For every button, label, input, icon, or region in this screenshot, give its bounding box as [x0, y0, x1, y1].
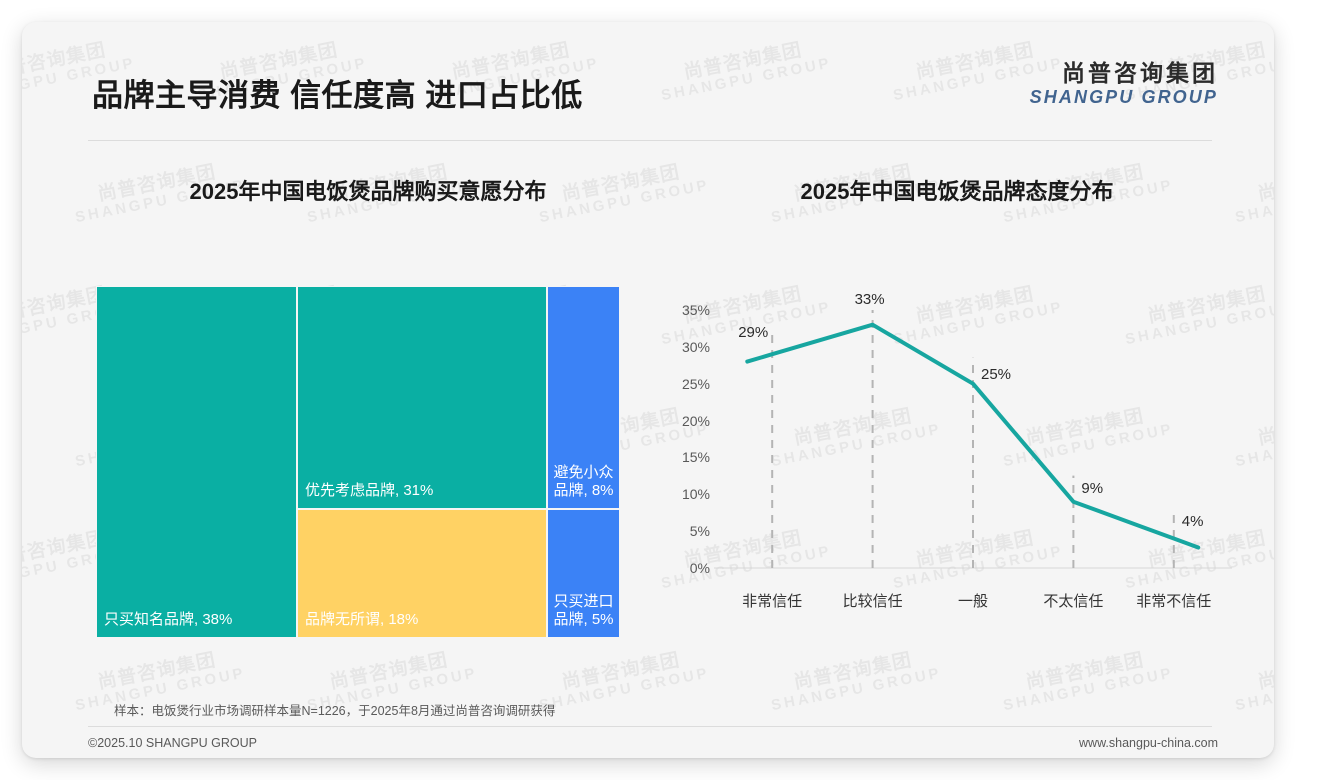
- data-point-label: 29%: [738, 324, 768, 341]
- treemap-cell[interactable]: 避免小众品牌, 8%: [547, 286, 620, 509]
- footer-copyright: ©2025.10 SHANGPU GROUP: [88, 736, 257, 750]
- treemap-cell-label: 只买知名品牌, 38%: [97, 611, 238, 637]
- treemap-cell-label: 优先考虑品牌, 31%: [298, 482, 439, 508]
- panel-purchase-intent: 2025年中国电饭煲品牌购买意愿分布 只买知名品牌, 38%优先考虑品牌, 31…: [88, 174, 648, 664]
- treemap-cell[interactable]: 只买进口品牌, 5%: [547, 509, 620, 638]
- x-axis-tick-label: 非常信任: [742, 590, 802, 611]
- treemap-cell[interactable]: 优先考虑品牌, 31%: [297, 286, 547, 509]
- brand-logo: 尚普咨询集团 SHANGPU GROUP: [1030, 60, 1218, 108]
- footer-website: www.shangpu-china.com: [1079, 736, 1218, 750]
- footer-divider: [88, 726, 1212, 727]
- panel-brand-attitude: 2025年中国电饭煲品牌态度分布 0%5%10%15%20%25%30%35%2…: [662, 174, 1252, 664]
- line-series-path: [747, 325, 1198, 548]
- brand-logo-cn: 尚普咨询集团: [1030, 60, 1218, 87]
- slide-header: 品牌主导消费 信任度高 进口占比低 尚普咨询集团 SHANGPU GROUP: [22, 22, 1274, 118]
- x-axis-tick-label: 不太信任: [1043, 590, 1103, 611]
- data-point-label: 4%: [1182, 513, 1204, 530]
- x-axis-tick-label: 一般: [958, 590, 988, 611]
- data-point-label: 33%: [855, 291, 885, 308]
- header-divider: [88, 140, 1212, 141]
- treemap-cell[interactable]: 品牌无所谓, 18%: [297, 509, 547, 638]
- line-chart: 0%5%10%15%20%25%30%35%29%33%25%9%4%非常信任比…: [662, 270, 1252, 630]
- treemap-cell[interactable]: 只买知名品牌, 38%: [96, 286, 297, 638]
- treemap-cell-label: 只买进口品牌, 5%: [548, 593, 619, 638]
- page-title: 品牌主导消费 信任度高 进口占比低: [92, 70, 583, 115]
- treemap-chart: 只买知名品牌, 38%优先考虑品牌, 31%品牌无所谓, 18%避免小众品牌, …: [96, 286, 620, 638]
- treemap-cell-label: 品牌无所谓, 18%: [298, 611, 424, 637]
- slide-card: 尚普咨询集团SHANGPU GROUP尚普咨询集团SHANGPU GROUP尚普…: [22, 22, 1274, 758]
- chart-title-treemap: 2025年中国电饭煲品牌购买意愿分布: [88, 174, 648, 206]
- chart-title-line: 2025年中国电饭煲品牌态度分布: [662, 174, 1252, 206]
- x-axis-tick-label: 比较信任: [843, 590, 903, 611]
- brand-logo-en: SHANGPU GROUP: [1030, 87, 1218, 108]
- x-axis-tick-label: 非常不信任: [1136, 590, 1211, 611]
- source-footnote: 样本：电饭煲行业市场调研样本量N=1226，于2025年8月通过尚普咨询调研获得: [114, 700, 555, 719]
- data-point-label: 25%: [981, 366, 1011, 383]
- treemap-cell-label: 避免小众品牌, 8%: [548, 464, 619, 509]
- data-point-label: 9%: [1081, 480, 1103, 497]
